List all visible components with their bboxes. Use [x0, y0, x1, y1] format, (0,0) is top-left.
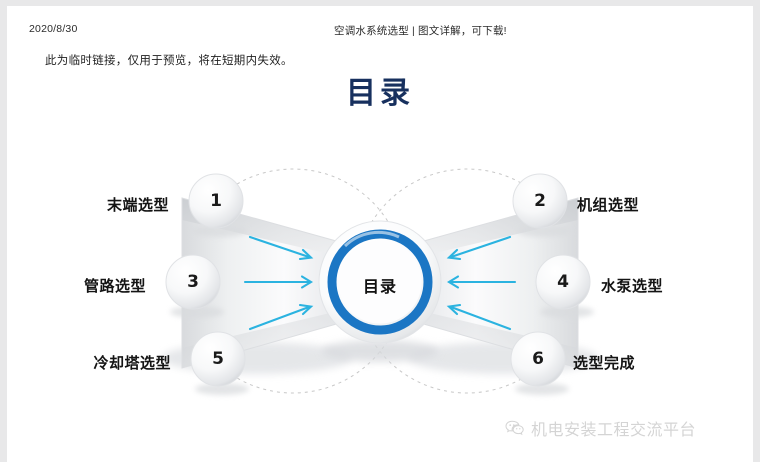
- watermark: 机电安装工程交流平台: [505, 416, 696, 440]
- node-label-terminal-selection[interactable]: 末端选型: [7, 194, 169, 215]
- contents-diagram: 目录 1 3 5 2 4 6 末端选型 管路选型 冷却塔选型 机组选型 水泵选型…: [7, 146, 753, 416]
- wechat-icon: [505, 420, 524, 436]
- watermark-text: 机电安装工程交流平台: [531, 416, 696, 440]
- node-label-water-pump-selection[interactable]: 水泵选型: [601, 275, 663, 296]
- node-number-6: 6: [515, 349, 561, 369]
- node-number-4: 4: [540, 272, 586, 292]
- node-number-2: 2: [517, 191, 563, 211]
- node-label-pipeline-selection[interactable]: 管路选型: [7, 275, 146, 296]
- document-page: 2020/8/30 空调水系统选型 | 图文详解，可下载! 此为临时链接，仅用于…: [7, 6, 753, 462]
- node-label-selection-complete[interactable]: 选型完成: [573, 352, 635, 373]
- temporary-link-notice: 此为临时链接，仅用于预览，将在短期内失效。: [45, 52, 293, 68]
- node-label-cooling-tower-selection[interactable]: 冷却塔选型: [7, 352, 171, 373]
- header-date: 2020/8/30: [29, 23, 78, 35]
- node-number-3: 3: [170, 272, 216, 292]
- node-number-5: 5: [195, 349, 241, 369]
- node-number-1: 1: [193, 191, 239, 211]
- node-label-unit-selection[interactable]: 机组选型: [577, 194, 639, 215]
- document-viewer: 2020/8/30 空调水系统选型 | 图文详解，可下载! 此为临时链接，仅用于…: [0, 0, 760, 462]
- slide-title: 目录: [7, 68, 753, 112]
- hub-label: 目录: [335, 273, 425, 297]
- header-document-title: 空调水系统选型 | 图文详解，可下载!: [334, 23, 507, 38]
